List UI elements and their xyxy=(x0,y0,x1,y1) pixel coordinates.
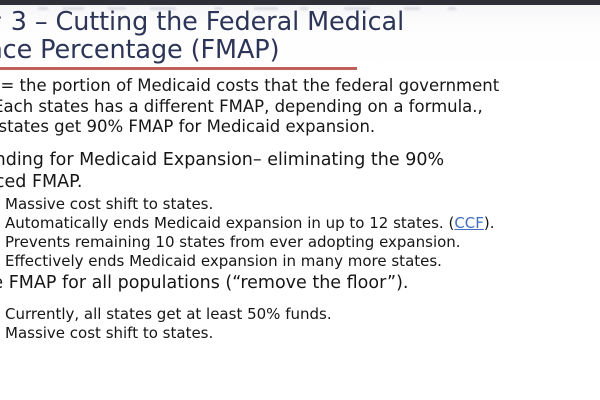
bullet-sub-text-suffix: ). xyxy=(484,214,495,232)
bullet-sub-item: Massive cost shift to states. xyxy=(5,195,600,214)
title-underline-rule xyxy=(0,67,357,70)
ccf-link[interactable]: CCF xyxy=(454,214,484,232)
screenshot-root: at # 3 – Cutting the Federal Medical sta… xyxy=(0,0,600,400)
bullet-sub-text: Massive cost shift to states. xyxy=(5,195,600,214)
slide-content: at # 3 – Cutting the Federal Medical sta… xyxy=(0,0,600,400)
bullet-main-line: t Funding for Medicaid Expansion– elimin… xyxy=(0,150,562,172)
bullet-sub-item: Massive cost shift to states. xyxy=(5,324,600,343)
bullet-main-line: hanced FMAP. xyxy=(0,172,562,194)
bullet-sub-item: Prevents remaining 10 states from ever a… xyxy=(5,233,600,252)
intro-line: all states get 90% FMAP for Medicaid exp… xyxy=(0,117,574,138)
bullet-main-2: t the FMAP for all populations (“remove … xyxy=(0,273,562,295)
slide-title-line-1: at # 3 – Cutting the Federal Medical xyxy=(0,8,488,36)
bullet-sub-item: Currently, all states get at least 50% f… xyxy=(5,305,600,324)
bullet-sub-text: Effectively ends Medicaid expansion in m… xyxy=(5,252,600,271)
slide-title-line-2: stance Percentage (FMAP) xyxy=(0,36,488,64)
bullet-sub-text-with-link: Automatically ends Medicaid expansion in… xyxy=(5,214,600,233)
intro-line: AP = the portion of Medicaid costs that … xyxy=(0,76,574,97)
intro-paragraph: AP = the portion of Medicaid costs that … xyxy=(0,76,574,138)
bullet-sub-item: Effectively ends Medicaid expansion in m… xyxy=(5,252,600,271)
bullet-main-1: t Funding for Medicaid Expansion– elimin… xyxy=(0,150,562,193)
bullet-sub-text: Prevents remaining 10 states from ever a… xyxy=(5,233,600,252)
bullet-sub-text: Currently, all states get at least 50% f… xyxy=(5,305,600,324)
bullet-sub-text: Massive cost shift to states. xyxy=(5,324,600,343)
bullet-sub-item: Automatically ends Medicaid expansion in… xyxy=(5,214,600,233)
bullet-sub-text-prefix: Automatically ends Medicaid expansion in… xyxy=(5,214,454,232)
bullet-main-line: t the FMAP for all populations (“remove … xyxy=(0,273,562,295)
slide-title: at # 3 – Cutting the Federal Medical sta… xyxy=(0,8,488,64)
intro-line: s. Each states has a different FMAP, dep… xyxy=(0,97,574,118)
